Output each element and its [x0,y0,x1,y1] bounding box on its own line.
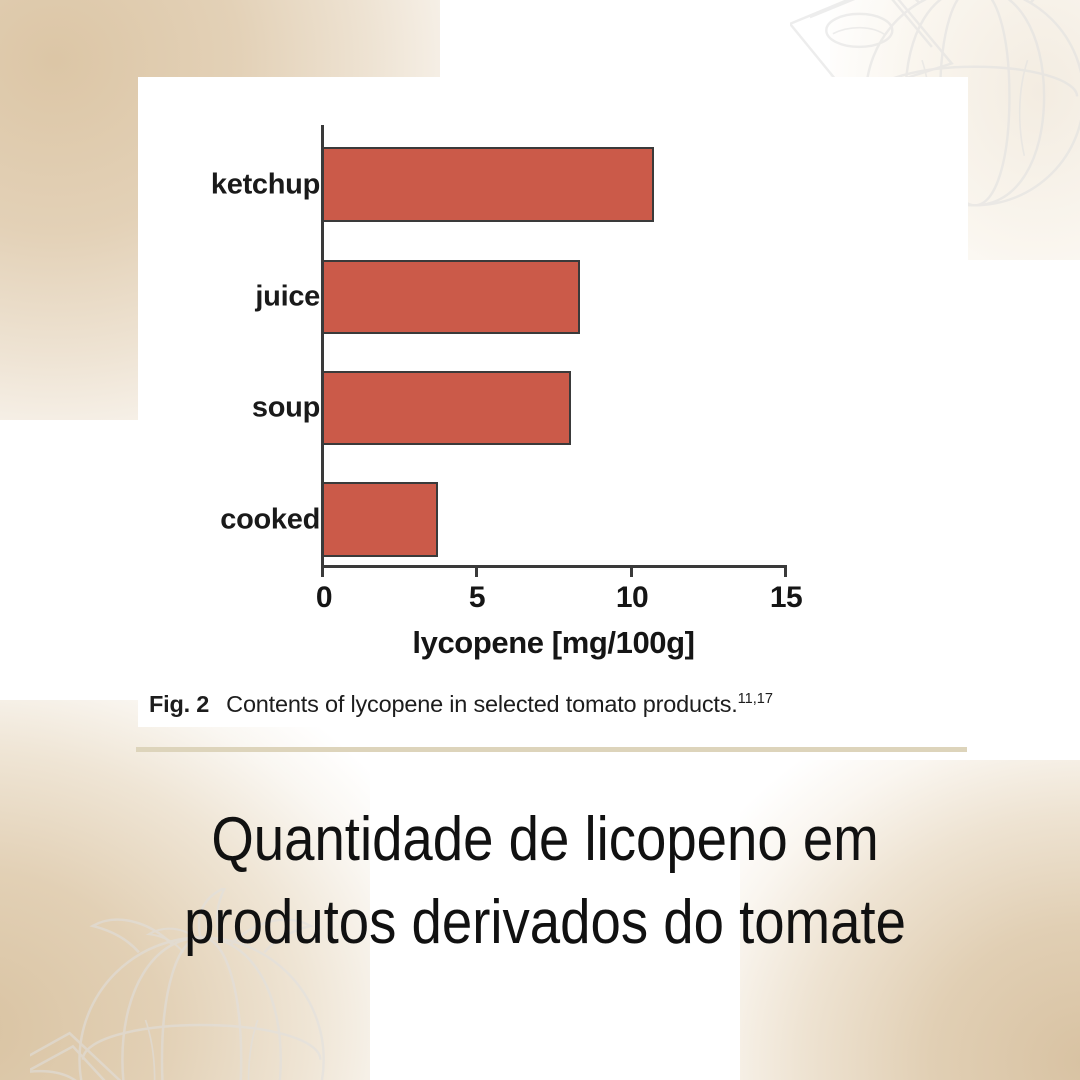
slide-title: Quantidade de licopeno em produtos deriv… [149,798,941,965]
category-label-cooked: cooked [220,506,320,535]
divider-rule [136,747,967,752]
x-tick-0 [321,565,324,577]
figure-card: ketchup juice soup cooked 0 5 10 15 lyco… [138,77,968,727]
figure-caption-references: 11,17 [738,691,773,707]
x-tick-label-0: 0 [316,581,332,615]
x-tick-15 [784,565,787,577]
x-axis-title: lycopene [mg/100g] [321,625,786,661]
x-tick-label-10: 10 [616,581,648,615]
bar-juice [322,260,580,334]
bar-cooked [322,482,438,557]
bar-ketchup [322,147,654,222]
x-tick-5 [475,565,478,577]
category-label-soup: soup [252,394,320,423]
figure-caption: Fig. 2Contents of lycopene in selected t… [149,691,773,718]
category-label-juice: juice [255,283,320,312]
x-tick-label-5: 5 [469,581,485,615]
category-label-ketchup: ketchup [211,171,320,200]
slide-canvas: ketchup juice soup cooked 0 5 10 15 lyco… [0,0,1080,1080]
x-axis-line [321,565,786,568]
bar-chart: ketchup juice soup cooked 0 5 10 15 lyco… [138,77,968,637]
figure-caption-text: Contents of lycopene in selected tomato … [226,691,737,717]
x-tick-label-15: 15 [770,581,802,615]
x-tick-10 [630,565,633,577]
bar-soup [322,371,571,445]
figure-number: Fig. 2 [149,691,209,717]
